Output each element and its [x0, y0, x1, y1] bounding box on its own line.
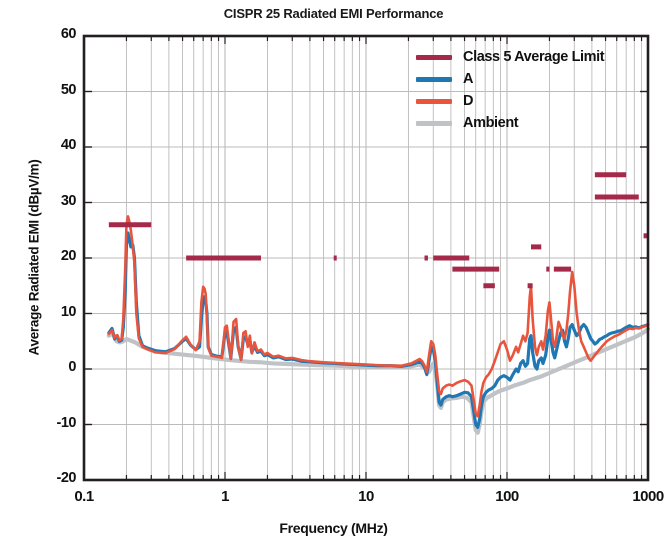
x-tick-label: 10	[326, 488, 406, 505]
legend-label: D	[463, 93, 473, 109]
x-tick-label: 0.1	[44, 488, 124, 505]
legend-item[interactable]: A	[416, 68, 604, 90]
legend-color-swatch	[416, 99, 452, 104]
y-tick-label: 0	[32, 359, 76, 375]
legend-item[interactable]: Class 5 Average Limit	[416, 46, 604, 68]
chart-container: CISPR 25 Radiated EMI Performance Averag…	[0, 0, 667, 554]
y-tick-label: -10	[32, 415, 76, 431]
x-tick-label: 1	[185, 488, 265, 505]
legend-item[interactable]: Ambient	[416, 112, 604, 134]
y-tick-label: 50	[32, 82, 76, 98]
x-tick-label: 100	[467, 488, 547, 505]
legend-color-swatch	[416, 121, 452, 126]
y-tick-label: 10	[32, 304, 76, 320]
y-tick-label: -20	[32, 470, 76, 486]
legend-label: A	[463, 71, 473, 87]
y-tick-label: 60	[32, 26, 76, 42]
y-tick-label: 20	[32, 248, 76, 264]
legend-label: Ambient	[463, 115, 518, 131]
legend-label: Class 5 Average Limit	[463, 49, 604, 65]
x-axis-label: Frequency (MHz)	[0, 520, 667, 536]
x-tick-label: 1000	[608, 488, 667, 505]
y-tick-label: 40	[32, 137, 76, 153]
legend-item[interactable]: D	[416, 90, 604, 112]
legend-color-swatch	[416, 77, 452, 82]
legend-color-swatch	[416, 55, 452, 60]
chart-legend: Class 5 Average LimitADAmbient	[416, 46, 604, 134]
y-tick-label: 30	[32, 193, 76, 209]
